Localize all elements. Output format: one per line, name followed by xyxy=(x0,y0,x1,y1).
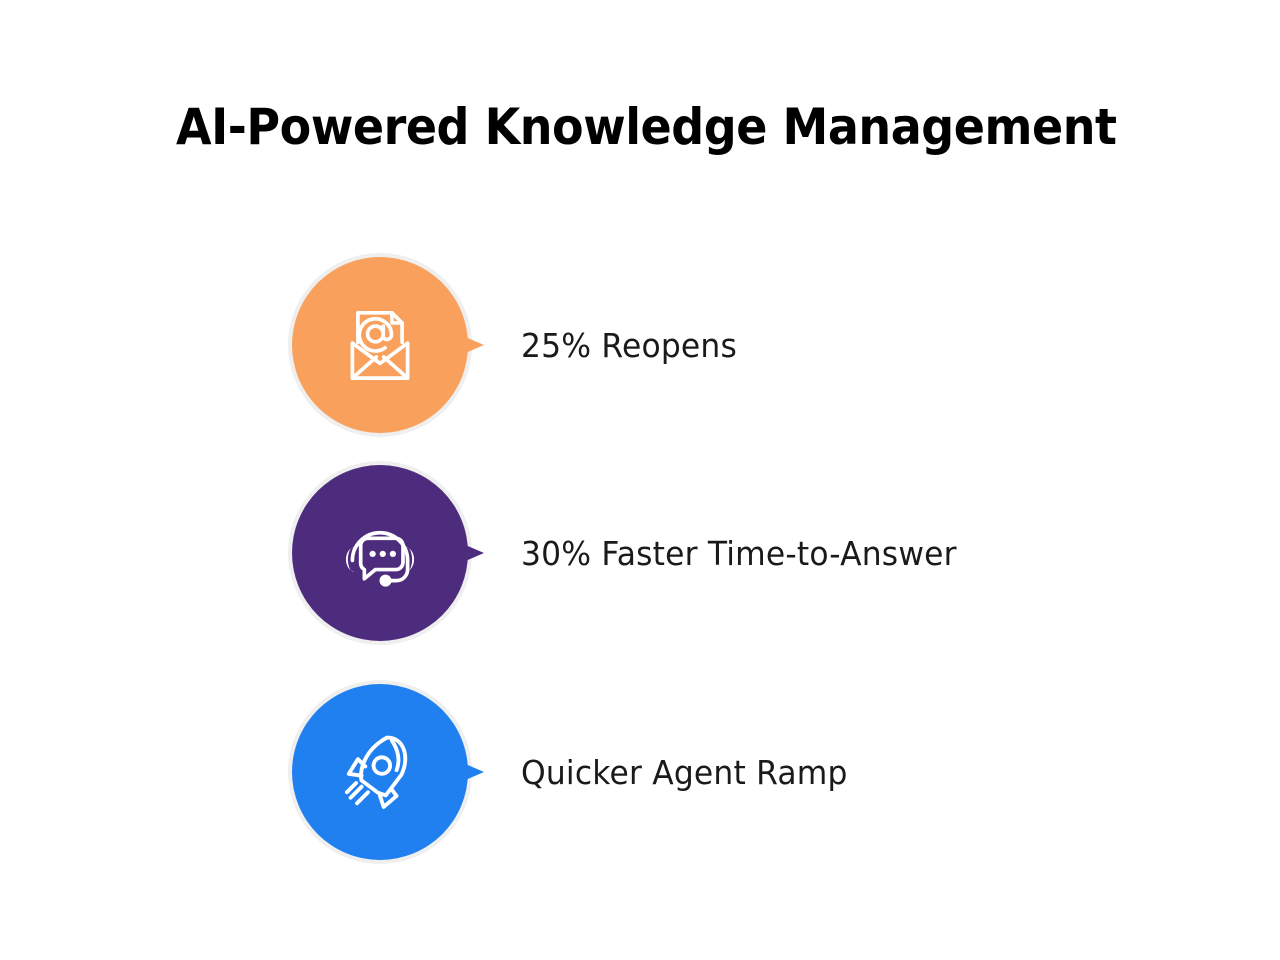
icon-badge-headset[interactable] xyxy=(276,449,484,657)
bullet-row: 25% Reopens xyxy=(0,241,1280,449)
bullet-row: 30% Faster Time-to-Answer xyxy=(0,449,1280,657)
headset-chat-icon xyxy=(292,465,468,641)
bullet-label: 25% Reopens xyxy=(521,326,737,365)
icon-badge-rocket[interactable] xyxy=(276,668,484,876)
page-title: AI-Powered Knowledge Management xyxy=(176,96,1096,158)
bullet-label: Quicker Agent Ramp xyxy=(521,753,848,792)
bullet-row: Quicker Agent Ramp xyxy=(0,668,1280,876)
bullet-label: 30% Faster Time-to-Answer xyxy=(521,534,957,573)
rocket-icon xyxy=(292,684,468,860)
email-at-document-icon xyxy=(292,257,468,433)
icon-badge-email[interactable] xyxy=(276,241,484,449)
slide-canvas: AI-Powered Knowledge Management xyxy=(0,0,1280,960)
